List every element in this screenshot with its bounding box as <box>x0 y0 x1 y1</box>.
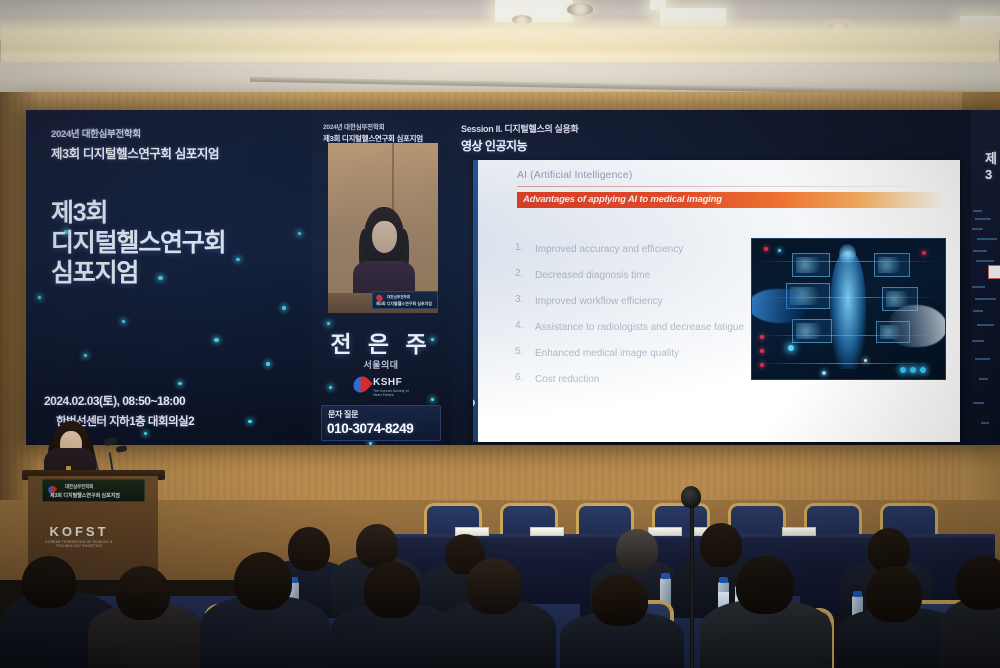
cam-podium-sign-line2: 제3회 디지털헬스연구회 심포지엄 <box>376 301 437 307</box>
list-item: 3. Improved workflow efficiency <box>515 294 745 310</box>
kofst-logo-text: KOFST <box>42 524 116 539</box>
list-item-text: Improved accuracy and efficiency <box>535 242 683 258</box>
bottle-cap <box>853 591 862 597</box>
list-item-number: 6. <box>515 372 535 388</box>
kshf-logo: KSHF The Korean Society of Heart Failure <box>353 375 409 399</box>
kshf-logo-subtext: The Korean Society of Heart Failure <box>373 389 409 397</box>
screen-panel-main-slide: Session II. 디지털헬스의 실용화 영상 인공지능 9 AI (Art… <box>451 110 971 445</box>
slide-page-number: 9 <box>473 398 475 408</box>
cam-speaker-face <box>372 221 397 253</box>
left-board-header: 2024년 대한심부전학회 제3회 디지털헬스연구회 심포지엄 <box>51 126 301 162</box>
list-item-text: Assistance to radiologists and decrease … <box>535 320 744 336</box>
list-item: 6. Cost reduction <box>515 372 745 388</box>
speaker-video-feed: 대한심부전학회 제3회 디지털헬스연구회 심포지엄 <box>328 143 438 313</box>
speaker-panel-header: 2024년 대한심부전학회 제3회 디지털헬스연구회 심포지엄 <box>323 121 448 144</box>
list-item: 4. Assistance to radiologists and decrea… <box>515 320 745 336</box>
hologram-body-icon <box>830 251 866 369</box>
slide-heading: AI (Artificial Intelligence) <box>517 169 632 181</box>
screen-panel-speaker-cam: 2024년 대한심부전학회 제3회 디지털헬스연구회 심포지엄 대한심부전학회 … <box>311 110 451 445</box>
human-hand-icon <box>889 305 946 347</box>
podium-sign-line1: 대한심부전학회 <box>65 484 144 490</box>
list-item-number: 3. <box>515 294 535 310</box>
left-board-subhead: 제3회 디지털헬스연구회 심포지엄 <box>51 143 301 162</box>
list-item-number: 5. <box>515 346 535 362</box>
audience-head <box>234 552 292 610</box>
left-board-title: 제3회 디지털헬스연구회 심포지엄 <box>51 198 306 288</box>
speaker-panel-eyebrow: 2024년 대한심부전학회 <box>323 121 448 131</box>
slide-heading-rule <box>517 186 942 187</box>
projection-screen: 2024년 대한심부전학회 제3회 디지털헬스연구회 심포지엄 제3회 디지털헬… <box>26 110 1000 445</box>
audience-head <box>736 556 794 614</box>
list-item: 5. Enhanced medical image quality <box>515 346 745 362</box>
audience-head <box>592 574 648 626</box>
speaker-name: 전 은 주 <box>319 325 443 359</box>
podium-sign-line2: 제3회 디지털헬스연구회 심포지엄 <box>50 492 144 499</box>
list-item-number: 1. <box>515 242 535 258</box>
list-item-text: Improved workflow efficiency <box>535 294 663 310</box>
audience-head <box>288 527 330 571</box>
bottle-cap <box>719 577 728 583</box>
left-board-title-line1: 제3회 <box>51 198 306 228</box>
ceiling-downlight <box>567 3 593 16</box>
audience-head <box>956 556 1000 610</box>
slide-banner-text: Advantages of applying AI to medical ima… <box>517 192 945 205</box>
audience-head <box>116 566 170 620</box>
robot-hand-icon <box>751 289 808 323</box>
session-line: Session II. 디지털헬스의 실용화 <box>461 122 861 135</box>
left-board-eyebrow: 2024년 대한심부전학회 <box>51 126 301 140</box>
kofst-logo: KOFST KOREAN FEDERATION OF SCIENCE & TEC… <box>42 524 116 548</box>
slide-banner: Advantages of applying AI to medical ima… <box>517 192 945 208</box>
list-item-number: 4. <box>515 320 535 336</box>
heart-icon <box>350 373 373 396</box>
list-item: 1. Improved accuracy and efficiency <box>515 242 745 258</box>
session-header: Session II. 디지털헬스의 실용화 영상 인공지능 <box>461 122 861 154</box>
name-card <box>530 527 564 536</box>
cam-podium-sign-line1: 대한심부전학회 <box>387 295 437 300</box>
cam-podium-sign: 대한심부전학회 제3회 디지털헬스연구회 심포지엄 <box>372 291 438 309</box>
list-item-text: Cost reduction <box>535 372 599 388</box>
session-title: 영상 인공지능 <box>461 137 861 154</box>
hologram-head-icon <box>839 244 856 264</box>
right-board-white-box <box>988 265 1000 279</box>
screen-panel-title-board: 2024년 대한심부전학회 제3회 디지털헬스연구회 심포지엄 제3회 디지털헬… <box>26 110 311 445</box>
left-board-footer: 2024.02.03(토), 08:50~18:00 한번선센터 지하1층 대회… <box>44 392 309 429</box>
presentation-slide: 9 AI (Artificial Intelligence) Advantage… <box>473 160 960 442</box>
kshf-logo-text: KSHF <box>373 377 402 388</box>
list-item-number: 2. <box>515 268 535 284</box>
list-item-text: Enhanced medical image quality <box>535 346 679 362</box>
left-board-title-line2: 디지털헬스연구회 <box>51 228 306 258</box>
kofst-logo-subtext: KOREAN FEDERATION OF SCIENCE & TECHNOLOG… <box>42 540 116 548</box>
boom-mic-pole <box>690 493 694 668</box>
left-board-title-line3: 심포지엄 <box>51 258 306 288</box>
name-card <box>782 527 816 536</box>
conference-photo-scene: 2024년 대한심부전학회 제3회 디지털헬스연구회 심포지엄 제3회 디지털헬… <box>0 0 1000 668</box>
speaker-affiliation: 서울의대 <box>319 358 443 371</box>
event-date: 2024.02.03(토), 08:50~18:00 <box>44 392 309 409</box>
slide-bullet-list: 1. Improved accuracy and efficiency 2. D… <box>515 242 745 398</box>
audience-head <box>616 529 658 571</box>
audience-head <box>466 558 522 614</box>
audience-head <box>866 566 922 622</box>
list-item-text: Decreased diagnosis time <box>535 268 650 284</box>
sms-question-label: 문자 질문 <box>328 409 440 420</box>
podium-sign: 대한심부전학회 제3회 디지털헬스연구회 심포지엄 <box>42 479 145 502</box>
screen-panel-right-board: 제3 <box>971 110 1000 445</box>
boom-mic-icon <box>681 486 701 508</box>
sms-question-phone: 010-3074-8249 <box>327 421 440 436</box>
sms-question-box: 문자 질문 010-3074-8249 <box>321 405 441 441</box>
right-board-partial-text: 제3 <box>985 148 1000 182</box>
name-card <box>648 527 682 536</box>
audience-head <box>22 556 76 608</box>
bottle-cap <box>661 573 670 579</box>
ai-medical-imaging-illustration <box>751 238 946 380</box>
list-item: 2. Decreased diagnosis time <box>515 268 745 284</box>
audience-head <box>700 523 742 567</box>
audience-head <box>364 562 420 618</box>
